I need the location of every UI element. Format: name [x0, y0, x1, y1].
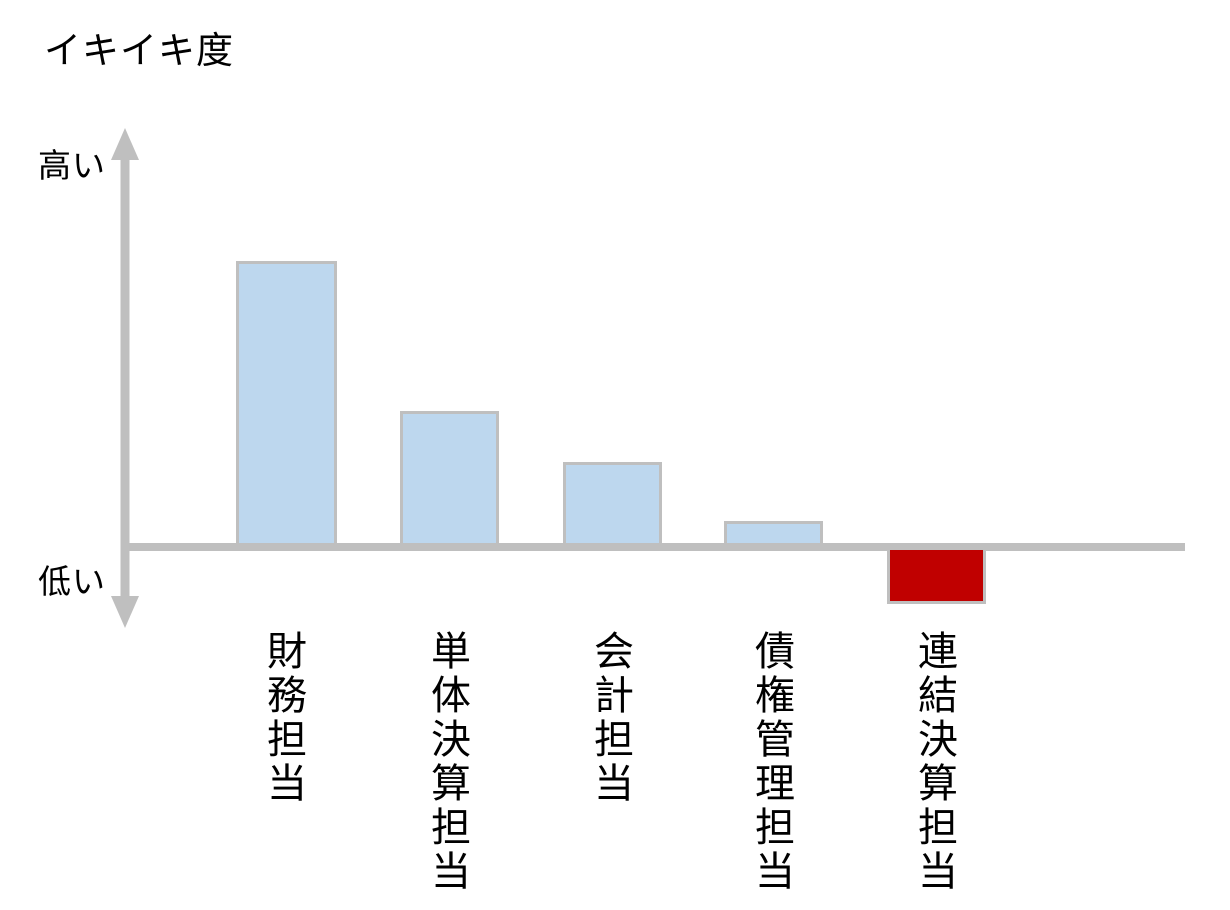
chart-canvas: イキイキ度 高い 低い 財務担当 単体決算担当 会計担当 債権管理担当 連結決算…: [0, 0, 1230, 910]
category-label-4: 連結決算担当: [913, 630, 955, 894]
bar-1[interactable]: [400, 411, 499, 546]
category-label-3: 債権管理担当: [750, 630, 792, 894]
category-label-2: 会計担当: [589, 630, 631, 806]
category-label-0: 財務担当: [262, 630, 304, 806]
bar-4[interactable]: [887, 547, 986, 604]
bar-0[interactable]: [236, 261, 337, 546]
bar-3[interactable]: [724, 521, 823, 546]
axis-arrow-up-icon: [111, 128, 139, 160]
category-label-1: 単体決算担当: [426, 630, 468, 894]
axis-label-low: 低い: [38, 562, 106, 602]
axis-label-high: 高い: [38, 146, 106, 186]
bar-2[interactable]: [563, 462, 662, 546]
axis-arrow-down-icon: [111, 596, 139, 628]
